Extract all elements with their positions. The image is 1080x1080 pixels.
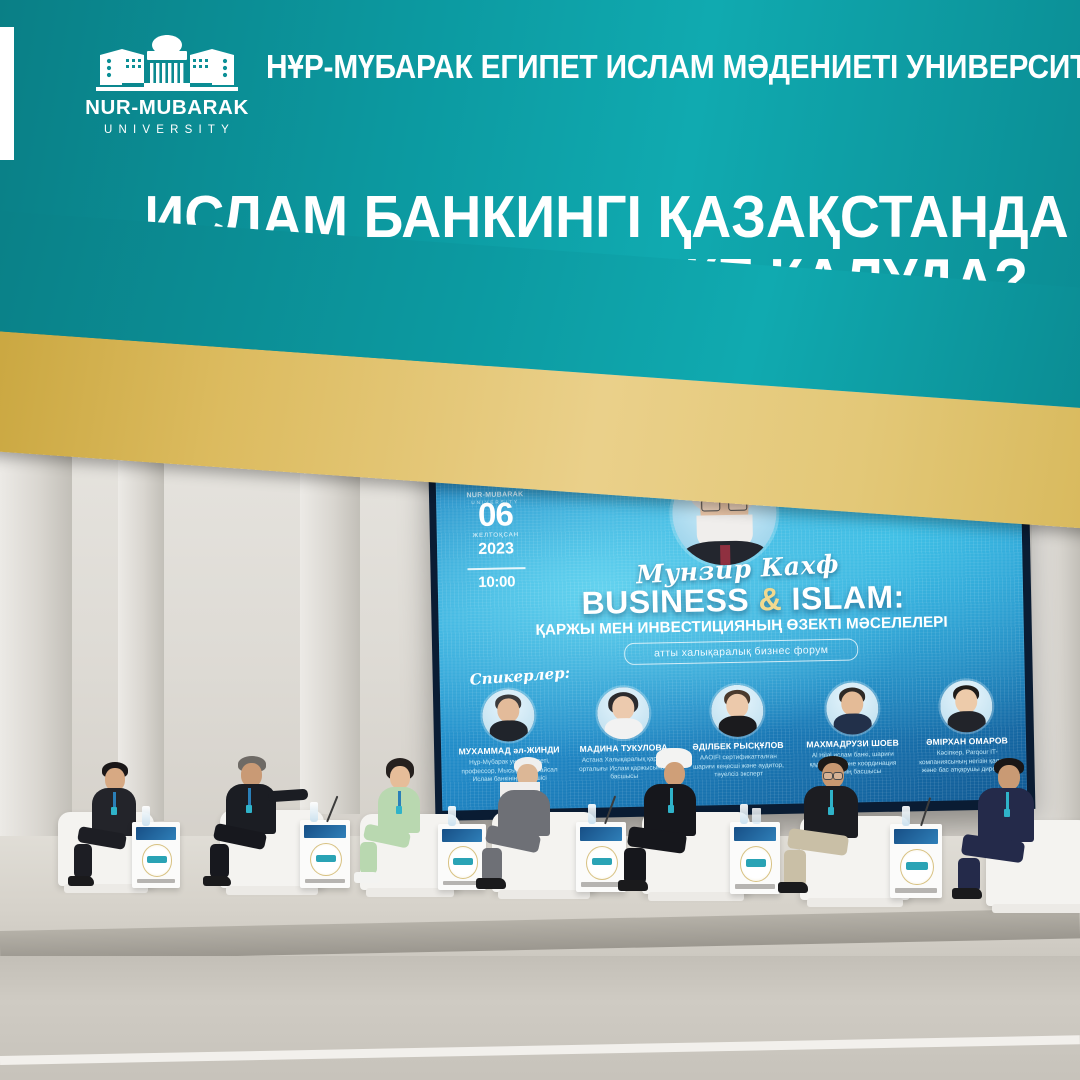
water-bottle <box>142 806 150 826</box>
logo-subtitle: UNIVERSITY <box>99 125 235 137</box>
led-event-year: 2023 <box>467 540 525 559</box>
logo-wordmark: NUR-MUBARAK <box>85 98 249 119</box>
led-event-day: 06 <box>466 499 525 530</box>
left-white-accent-bar <box>0 27 14 160</box>
speaker-avatar <box>482 689 535 742</box>
branded-podium <box>132 822 180 888</box>
speaker-name: ӘМІРХАН ОМАРОВ <box>913 736 1021 748</box>
microphone <box>920 797 931 826</box>
water-bottle <box>902 806 910 826</box>
water-bottle <box>448 806 456 826</box>
water-bottle <box>310 802 318 822</box>
led-forum-pill-label: атты халықаралық бизнес форум <box>624 638 858 665</box>
led-forum-title-b: ISLAM: <box>791 578 905 616</box>
speaker-avatar <box>596 687 649 740</box>
panelist-seat <box>58 764 198 894</box>
drinking-glass <box>752 808 761 824</box>
branded-podium <box>300 820 350 888</box>
led-forum-title-a: BUSINESS <box>581 582 749 621</box>
led-forum-title-amp: & <box>758 581 782 617</box>
university-building-icon <box>92 33 242 91</box>
panelist-seat <box>950 760 1080 912</box>
led-event-time: 10:00 <box>467 567 525 591</box>
speaker-avatar <box>825 682 878 735</box>
university-name-heading: НҰР-МҮБАРАК ЕГИПЕТ ИСЛАМ МӘДЕНИЕТІ УНИВЕ… <box>266 46 981 88</box>
panelist-seat <box>782 758 962 908</box>
water-bottle <box>588 804 596 824</box>
speaker-name: МУХАММАД әл-ЖИНДИ <box>455 745 563 757</box>
poster-root: NUR-MUBARAK UNIVERSITY НҰР-МҮБАРАК ЕГИПЕ… <box>0 0 1080 1080</box>
university-logo: NUR-MUBARAK UNIVERSITY <box>72 33 262 138</box>
water-bottle <box>740 804 748 824</box>
microphone <box>326 796 338 823</box>
led-event-month: ЖЕЛТОҚСАН <box>467 532 525 539</box>
panelist-seat <box>198 758 368 898</box>
speaker-avatar <box>711 684 764 737</box>
panelist-seat <box>620 756 795 906</box>
speaker-avatar <box>940 680 993 733</box>
speaker-name: МАХМАДРУЗИ ШОЕВ <box>798 738 906 750</box>
branded-podium <box>890 824 942 898</box>
speaker-name: ӘДІЛБЕК РЫСҚҰЛОВ <box>684 741 792 753</box>
branded-podium <box>730 822 780 894</box>
led-event-datetime: 06 ЖЕЛТОҚСАН 2023 10:00 <box>466 499 526 591</box>
microphone <box>604 795 616 824</box>
